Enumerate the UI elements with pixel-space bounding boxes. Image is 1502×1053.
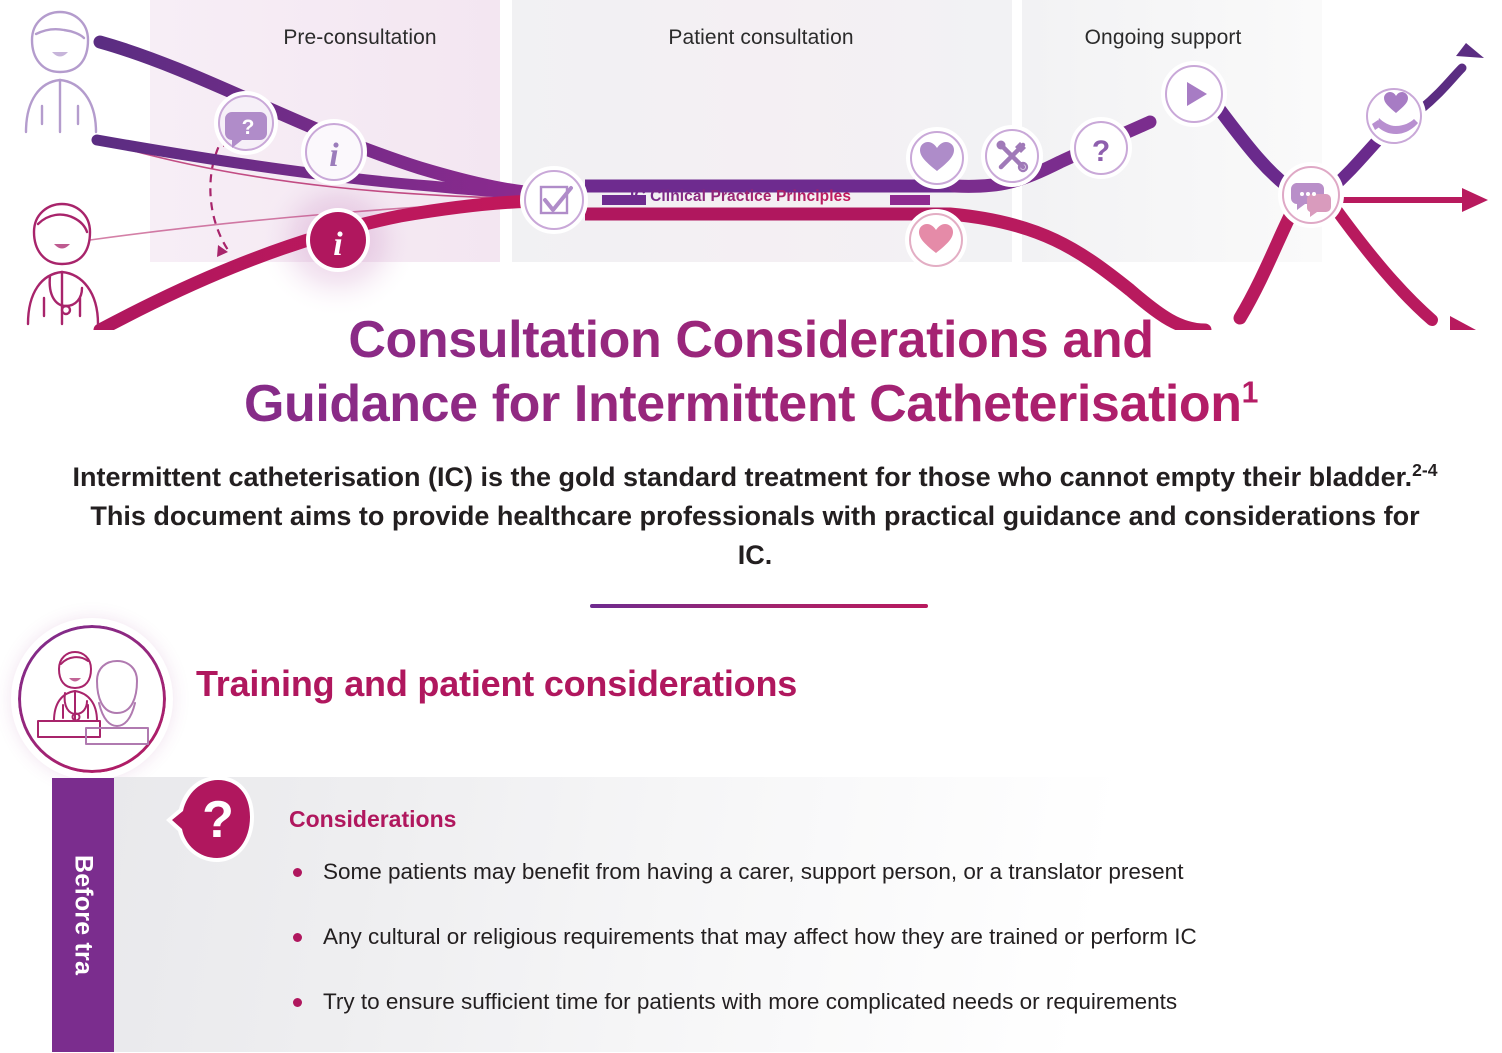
hand-holding-heart-icon	[1365, 87, 1423, 145]
phase-tab-before-training: Before tra	[52, 778, 114, 1052]
purple-exit-arrow-head	[1456, 43, 1484, 58]
title-block: Consultation Considerations andGuidance …	[0, 308, 1502, 436]
question-speech-bubble-icon: ?	[217, 94, 275, 152]
consultation-illustration-badge	[18, 625, 166, 773]
considerations-title: Considerations	[289, 806, 456, 833]
section-divider	[590, 604, 928, 608]
phase-tab-label: Before tra	[69, 855, 98, 975]
page-subtitle: Intermittent catheterisation (IC) is the…	[70, 458, 1440, 575]
svg-text:?: ?	[242, 116, 255, 139]
chat-bubbles-icon	[1281, 165, 1341, 225]
patient-figure	[26, 12, 96, 132]
purple-exit-arrow-curve	[1420, 68, 1462, 110]
list-item: Any cultural or religious requirements t…	[289, 923, 1449, 951]
info-icon-filled: i	[306, 208, 370, 272]
journey-header: ? i i	[0, 0, 1502, 330]
principles-rail-dash-right	[890, 195, 930, 205]
play-icon	[1164, 64, 1224, 124]
section-heading: Training and patient considerations	[196, 663, 797, 705]
stage-label-pre-consultation: Pre-consultation	[250, 26, 470, 50]
svg-text:i: i	[329, 137, 339, 174]
stage-label-patient-consultation: Patient consultation	[648, 26, 874, 50]
list-item: Try to ensure sufficient time for patien…	[289, 988, 1449, 1016]
question-mark-bubble-icon: ?	[160, 771, 258, 869]
consultation-illustration-icon	[18, 625, 166, 773]
subtitle-part-1: Intermittent catheterisation (IC) is the…	[72, 462, 1412, 492]
healthcare-professional-figure	[28, 204, 98, 324]
svg-text:i: i	[333, 226, 343, 263]
title-line-2: Guidance for Intermittent Catheterisatio…	[244, 375, 1242, 433]
list-item: Some patients may benefit from having a …	[289, 858, 1449, 886]
heart-icon-purple	[909, 130, 965, 186]
considerations-list: Some patients may benefit from having a …	[289, 858, 1449, 1053]
subtitle-reference: 2-4	[1412, 460, 1437, 480]
ic-clinical-practice-principles-label: IC Clinical Practice Principles	[630, 188, 851, 206]
info-icon-outline: i	[304, 122, 364, 182]
subtitle-part-2: This document aims to provide healthcare…	[90, 501, 1419, 570]
principles-rail-arrow-head	[1462, 188, 1488, 212]
checkbox-tick-icon	[523, 169, 585, 231]
page-title: Consultation Considerations andGuidance …	[0, 308, 1502, 436]
svg-text:?: ?	[1092, 135, 1110, 168]
magenta-descend-exit	[1335, 208, 1432, 320]
question-mark-icon: ?	[1073, 120, 1129, 176]
title-reference: 1	[1242, 377, 1258, 410]
title-line-1: Consultation Considerations and	[348, 311, 1153, 369]
tools-crossed-icon	[984, 128, 1040, 184]
stage-label-ongoing-support: Ongoing support	[1052, 26, 1274, 50]
svg-text:?: ?	[202, 791, 234, 849]
heart-icon-pink	[908, 212, 964, 268]
